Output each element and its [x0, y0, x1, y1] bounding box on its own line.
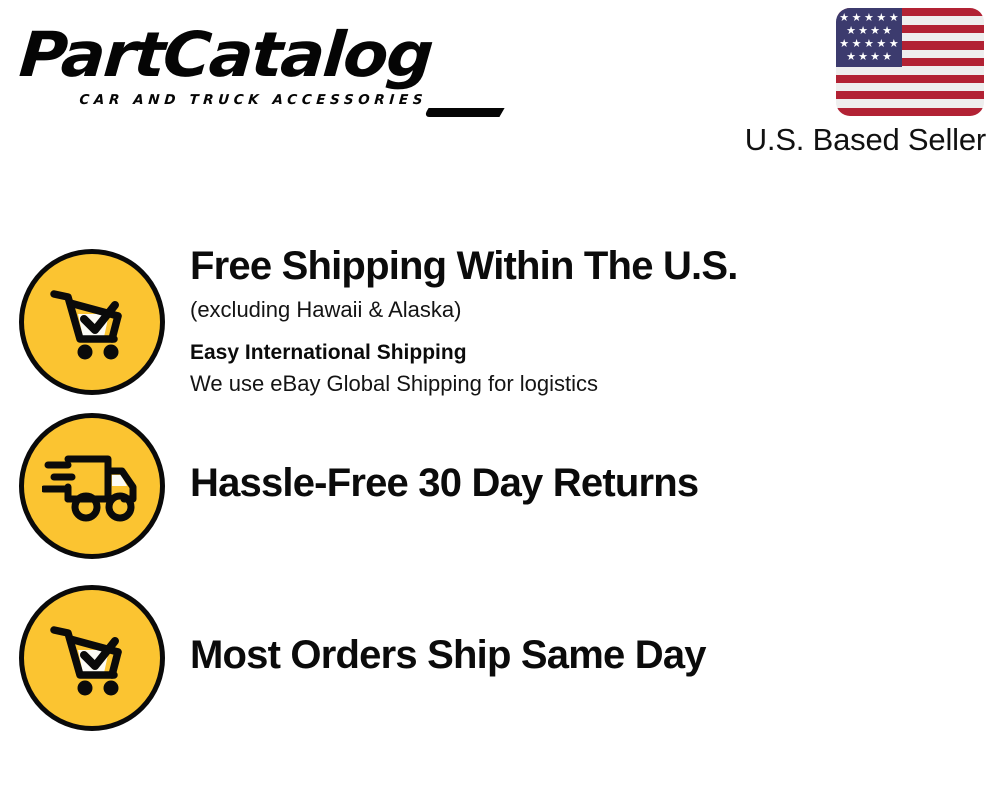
star-icon: ★: [858, 52, 868, 63]
feature-text: Most Orders Ship Same Day: [190, 585, 1000, 678]
flag-stripe: [836, 91, 984, 99]
flag-star-row: ★ ★ ★ ★: [838, 25, 900, 38]
star-icon: ★: [852, 39, 862, 50]
star-icon: ★: [889, 13, 899, 24]
brand-logo: PartCatalog CAR AND TRUCK ACCESSORIES: [22, 22, 492, 117]
star-icon: ★: [882, 52, 892, 63]
feature-icon-wrap: [0, 413, 190, 559]
feature-title: Hassle-Free 30 Day Returns: [190, 460, 1000, 506]
star-icon: ★: [876, 13, 886, 24]
feature-list: Free Shipping Within The U.S. (excluding…: [0, 235, 1000, 757]
feature-row-free-shipping: Free Shipping Within The U.S. (excluding…: [0, 235, 1000, 413]
flag-stripe: [836, 75, 984, 83]
feature-title: Free Shipping Within The U.S.: [190, 243, 1000, 289]
star-icon: ★: [839, 13, 849, 24]
flag-star-row: ★ ★ ★ ★ ★: [838, 38, 900, 51]
flag-stripe: [836, 108, 984, 116]
star-icon: ★: [882, 26, 892, 37]
feature-icon-wrap: [0, 235, 190, 395]
flag-canton: ★ ★ ★ ★ ★ ★ ★ ★ ★ ★ ★ ★ ★ ★: [836, 8, 902, 67]
shopping-cart-check-icon: [19, 249, 165, 395]
banner-header: PartCatalog CAR AND TRUCK ACCESSORIES: [0, 0, 1000, 175]
shopping-cart-check-icon: [19, 585, 165, 731]
brand-swash-decoration: [423, 108, 504, 117]
feature-subtitle: (excluding Hawaii & Alaska): [190, 295, 1000, 325]
star-icon: ★: [870, 52, 880, 63]
us-based-seller-badge: ★ ★ ★ ★ ★ ★ ★ ★ ★ ★ ★ ★ ★ ★: [720, 8, 988, 160]
flag-stripe: [836, 99, 984, 107]
feature-text: Free Shipping Within The U.S. (excluding…: [190, 235, 1000, 399]
flag-stripe: [836, 83, 984, 91]
star-icon: ★: [864, 13, 874, 24]
star-icon: ★: [876, 39, 886, 50]
star-icon: ★: [846, 26, 856, 37]
feature-row-same-day-ship: Most Orders Ship Same Day: [0, 585, 1000, 757]
feature-secondary-title: Easy International Shipping: [190, 339, 1000, 367]
us-flag-icon: ★ ★ ★ ★ ★ ★ ★ ★ ★ ★ ★ ★ ★ ★: [836, 8, 984, 116]
star-icon: ★: [852, 13, 862, 24]
delivery-truck-icon: [19, 413, 165, 559]
seller-label: U.S. Based Seller: [745, 122, 986, 158]
flag-star-row: ★ ★ ★ ★ ★: [838, 12, 900, 25]
feature-row-returns: Hassle-Free 30 Day Returns: [0, 413, 1000, 585]
flag-star-row: ★ ★ ★ ★: [838, 51, 900, 64]
star-icon: ★: [839, 39, 849, 50]
star-icon: ★: [889, 39, 899, 50]
promo-banner: { "brand": { "wordmark": "PartCatalog", …: [0, 0, 1000, 800]
star-icon: ★: [864, 39, 874, 50]
feature-icon-wrap: [0, 585, 190, 731]
star-icon: ★: [858, 26, 868, 37]
brand-tagline: CAR AND TRUCK ACCESSORIES: [79, 92, 428, 108]
feature-title: Most Orders Ship Same Day: [190, 632, 1000, 678]
star-icon: ★: [870, 26, 880, 37]
star-icon: ★: [846, 52, 856, 63]
feature-secondary-subtitle: We use eBay Global Shipping for logistic…: [190, 369, 1000, 399]
feature-text: Hassle-Free 30 Day Returns: [190, 413, 1000, 506]
flag-stripe: [836, 66, 984, 74]
brand-wordmark: PartCatalog: [17, 22, 520, 88]
